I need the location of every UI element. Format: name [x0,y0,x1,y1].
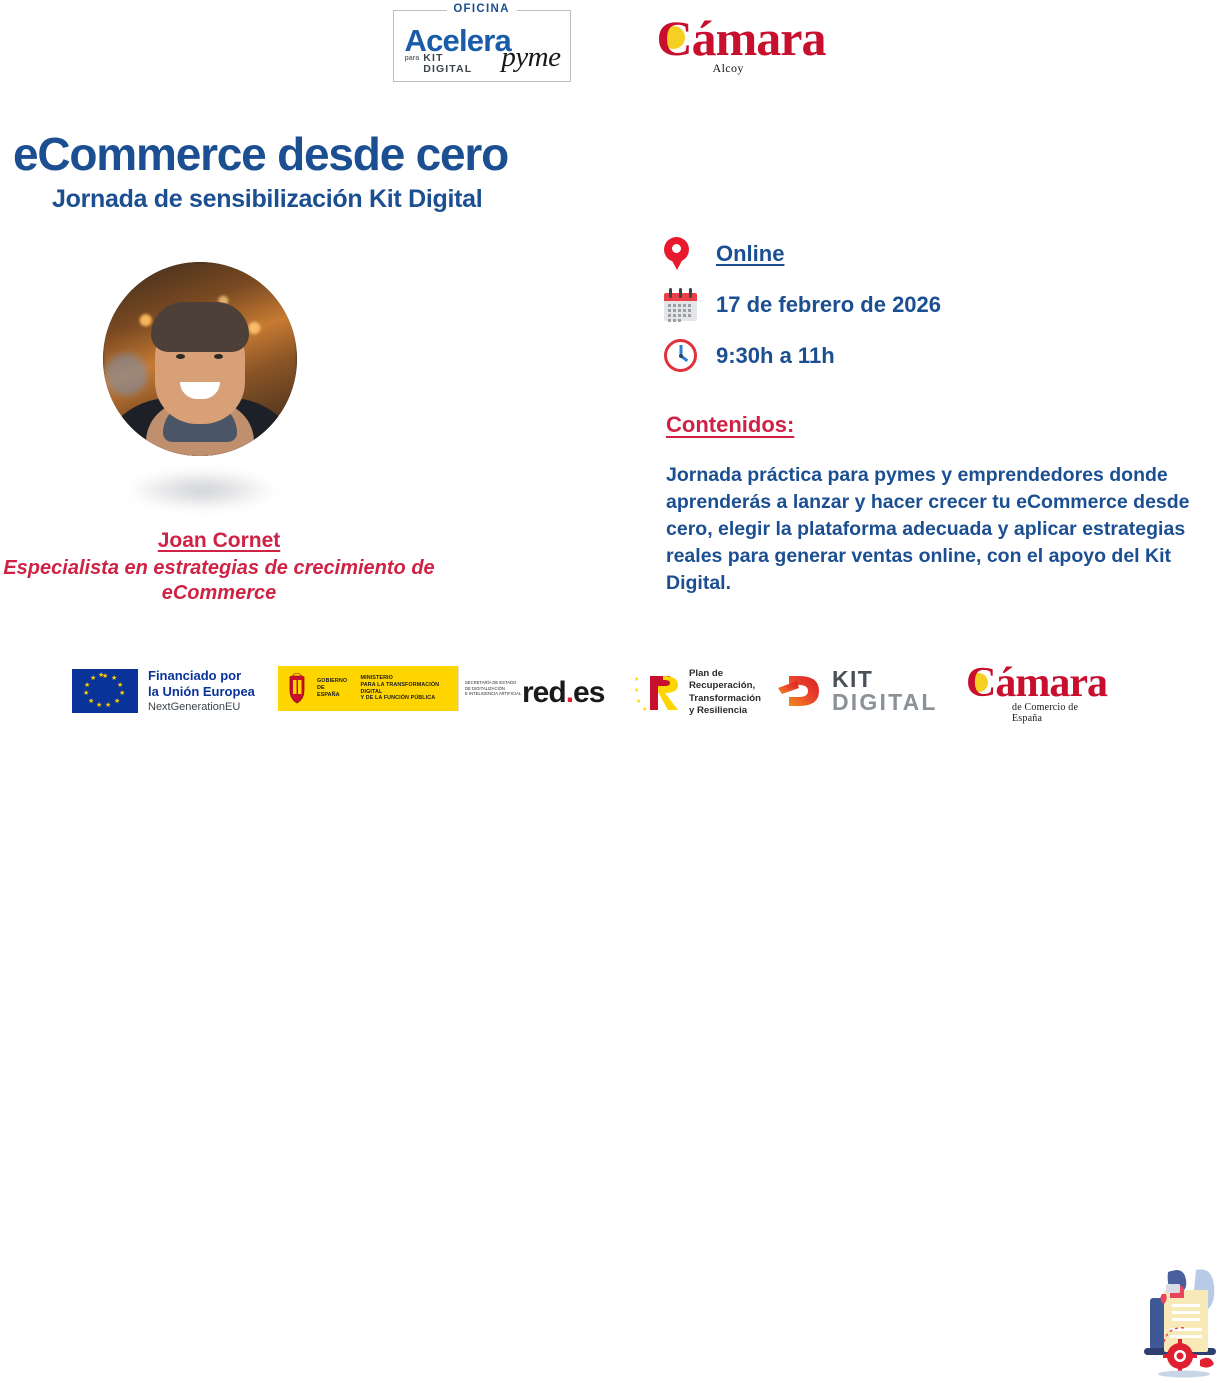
acelera-oficina-badge: OFICINA [446,3,516,15]
prtr-line-3: Transformación [689,693,761,705]
speaker-role: Especialista en estrategias de crecimien… [0,556,438,606]
svg-text:★: ★ [642,706,647,713]
acelera-para-label: para [405,53,420,62]
svg-text:★: ★ [636,698,641,705]
spain-coat-of-arms-icon [284,673,310,705]
gobierno-espana-logo: GOBIERNO DE ESPAÑA MINISTERIO PARA LA TR… [278,666,530,711]
camara-espana-wordmark: Cámara [966,662,1107,704]
acelera-kit-digital-lockup: para KIT DIGITAL [405,53,473,77]
prtr-line-4: y Resiliencia [689,705,761,717]
acelera-kit-digital-text: KIT DIGITAL [423,53,472,77]
gobierno-line-2: DE ESPAÑA [317,685,348,699]
camara-alcoy-wordmark: Cámara [657,13,847,63]
detail-row-time: 9:30h a 11h [664,330,1216,381]
speaker-name: Joan Cornet [0,529,438,553]
ministerio-label: MINISTERIO PARA LA TRANSFORMACIÓN DIGITA… [361,675,459,703]
secretaria-line-3: E INTELIGENCIA ARTIFICIAL [465,691,521,696]
red-es-logo: red.es [522,676,604,710]
red-es-dot: . [566,676,573,709]
ministerio-line-3: Y DE LA FUNCIÓN PÚBLICA [361,695,459,702]
kit-digital-mark-icon [775,670,823,712]
eu-funding-logo: ★ ★ ★ ★ ★ ★ ★ ★ ★ ★ ★ ★ Financiado por l… [72,668,255,713]
acelera-pyme-script: pyme [501,41,560,74]
prtr-line-2: Recuperación, [689,680,761,692]
location-pin-icon [664,237,716,271]
laptop-gear-illustration [1138,1260,1226,1378]
clock-icon [664,339,716,372]
kit-digital-line-1: KIT [832,668,938,691]
page-title: eCommerce desde cero [13,127,508,181]
calendar-icon [664,288,716,321]
header-logo-bar: OFICINA Acelera pyme para KIT DIGITAL Cá… [0,0,1231,92]
acelera-pyme-logo: OFICINA Acelera pyme para KIT DIGITAL [393,10,571,82]
speaker-photo-wrapper [103,262,297,456]
speaker-photo-shadow [128,470,276,510]
eu-line-3: NextGenerationEU [148,701,255,713]
prtr-line-1: Plan de [689,668,761,680]
camara-alcoy-word: ámara [692,10,826,66]
camara-alcoy-initial: C [657,10,692,66]
gobierno-line-1: GOBIERNO [317,678,348,685]
photo-hair [151,302,249,352]
camara-espana-word: ámara [995,660,1107,706]
eu-flag-icon: ★ ★ ★ ★ ★ ★ ★ ★ ★ ★ ★ ★ [72,669,138,713]
prtr-mark-icon: ★ ★ ★ ★ [634,672,682,714]
svg-text:★: ★ [634,687,639,694]
acelera-digital-line: DIGITAL [423,64,472,76]
gobierno-label: GOBIERNO DE ESPAÑA [317,678,348,699]
prtr-text: Plan de Recuperación, Transformación y R… [689,668,761,718]
red-es-tld: es [573,676,604,709]
eu-line-2: la Unión Europea [148,684,255,700]
camara-alcoy-logo: Cámara Alcoy [649,13,839,79]
speaker-avatar [103,262,297,456]
eu-line-1: Financiado por [148,668,255,684]
contents-description: Jornada práctica para pymes y emprendedo… [666,462,1226,597]
detail-row-date: 17 de febrero de 2026 [664,279,1216,330]
kit-digital-line-2: DIGITAL [832,691,938,714]
detail-row-location: Online [664,228,1216,279]
photo-eye-right [214,354,223,359]
detail-location-value[interactable]: Online [716,241,784,267]
footer-logo-bar: ★ ★ ★ ★ ★ ★ ★ ★ ★ ★ ★ ★ Financiado por l… [0,648,1231,732]
photo-eye-left [176,354,185,359]
eu-funding-text: Financiado por la Unión Europea NextGene… [148,668,255,713]
svg-text:★: ★ [634,676,639,683]
page-subtitle: Jornada de sensibilización Kit Digital [52,185,482,214]
ministerio-line-1: MINISTERIO [361,675,459,682]
secretaria-line-1: SECRETARÍA DE ESTADO [465,680,521,685]
kit-digital-logo: KIT DIGITAL [775,668,938,714]
event-details-list: Online 17 de febrero de 2026 [664,228,1216,381]
kit-digital-text: KIT DIGITAL [832,668,938,714]
prtr-plan-logo: ★ ★ ★ ★ Plan de Recuperación, Transforma… [634,668,761,718]
contents-heading: Contenidos: [666,412,794,438]
detail-date-value: 17 de febrero de 2026 [716,292,941,318]
secretaria-label: SECRETARÍA DE ESTADO DE DIGITALIZACIÓN E… [465,680,521,696]
camara-espana-initial: C [966,660,995,706]
detail-time-value: 9:30h a 11h [716,343,835,369]
red-es-name: red [522,676,566,709]
ministerio-line-2: PARA LA TRANSFORMACIÓN DIGITAL [361,682,459,696]
camara-espana-logo: Cámara de Comercio de España [958,662,1108,718]
